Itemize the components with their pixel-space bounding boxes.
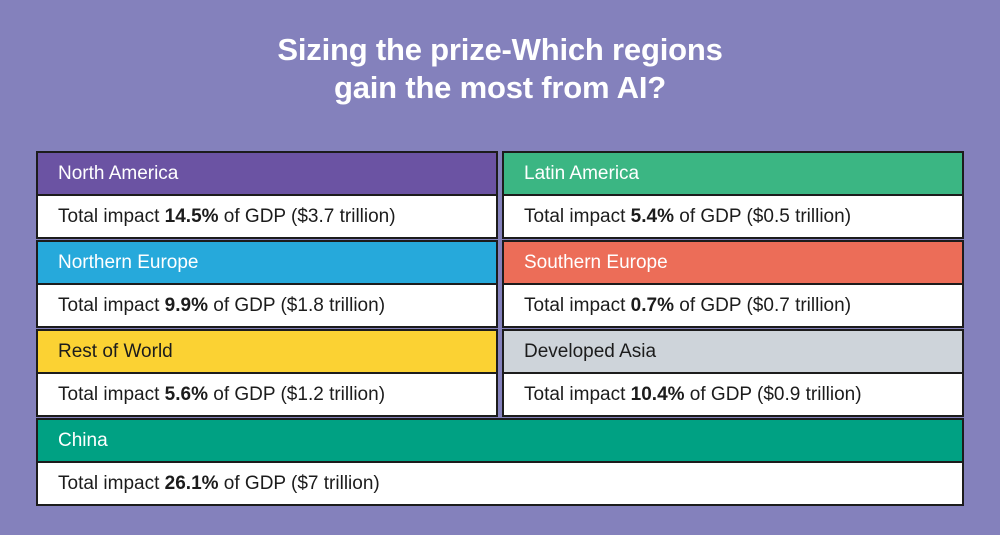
impact-percent: 5.4% [631, 206, 674, 227]
region-card-north-america: North America Total impact 14.5% of GDP … [36, 151, 498, 239]
region-card-southern-europe: Southern Europe Total impact 0.7% of GDP… [502, 240, 964, 328]
impact-percent: 14.5% [165, 206, 219, 227]
page-title-line-2: gain the most from AI? [0, 69, 1000, 107]
region-header-china: China [36, 418, 964, 462]
region-header-northern-europe: Northern Europe [36, 240, 498, 284]
region-header-southern-europe: Southern Europe [502, 240, 964, 284]
region-value-china: Total impact 26.1% of GDP ($7 trillion) [36, 462, 964, 506]
page-title: Sizing the prize-Which regions gain the … [0, 0, 1000, 107]
infographic-canvas: Sizing the prize-Which regions gain the … [0, 0, 1000, 535]
region-card-china: China Total impact 26.1% of GDP ($7 tril… [36, 418, 964, 506]
table-row: Rest of World Total impact 5.6% of GDP (… [36, 329, 964, 417]
page-title-line-1: Sizing the prize-Which regions [0, 31, 1000, 69]
impact-percent: 5.6% [165, 384, 208, 405]
table-row: Northern Europe Total impact 9.9% of GDP… [36, 240, 964, 328]
region-value-northern-europe: Total impact 9.9% of GDP ($1.8 trillion) [36, 284, 498, 328]
region-value-latin-america: Total impact 5.4% of GDP ($0.5 trillion) [502, 195, 964, 239]
region-value-north-america: Total impact 14.5% of GDP ($3.7 trillion… [36, 195, 498, 239]
region-card-rest-of-world: Rest of World Total impact 5.6% of GDP (… [36, 329, 498, 417]
impact-percent: 0.7% [631, 295, 674, 316]
regions-table: North America Total impact 14.5% of GDP … [36, 151, 964, 507]
region-value-southern-europe: Total impact 0.7% of GDP ($0.7 trillion) [502, 284, 964, 328]
region-header-developed-asia: Developed Asia [502, 329, 964, 373]
region-header-north-america: North America [36, 151, 498, 195]
region-card-developed-asia: Developed Asia Total impact 10.4% of GDP… [502, 329, 964, 417]
region-value-developed-asia: Total impact 10.4% of GDP ($0.9 trillion… [502, 373, 964, 417]
region-header-rest-of-world: Rest of World [36, 329, 498, 373]
region-card-latin-america: Latin America Total impact 5.4% of GDP (… [502, 151, 964, 239]
impact-percent: 26.1% [165, 473, 219, 494]
table-row: North America Total impact 14.5% of GDP … [36, 151, 964, 239]
region-header-latin-america: Latin America [502, 151, 964, 195]
table-row: China Total impact 26.1% of GDP ($7 tril… [36, 418, 964, 506]
impact-percent: 10.4% [631, 384, 685, 405]
region-value-rest-of-world: Total impact 5.6% of GDP ($1.2 trillion) [36, 373, 498, 417]
region-card-northern-europe: Northern Europe Total impact 9.9% of GDP… [36, 240, 498, 328]
impact-percent: 9.9% [165, 295, 208, 316]
